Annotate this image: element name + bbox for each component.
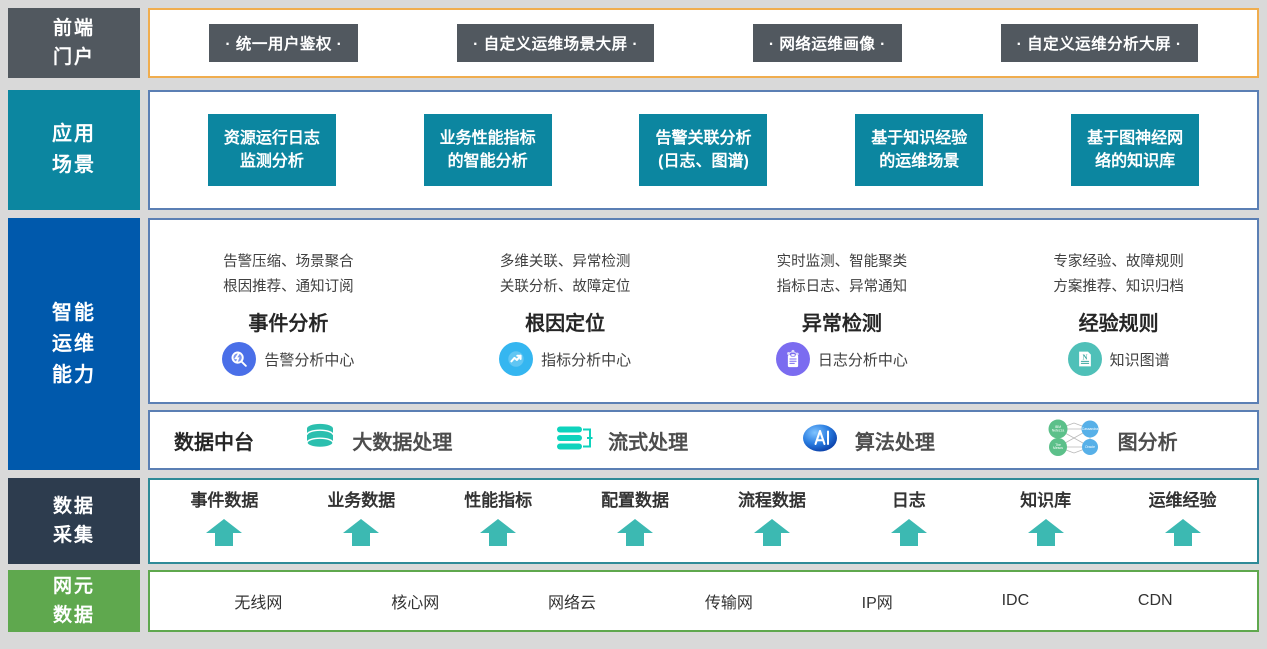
- collection-item-performance-kpi[interactable]: 性能指标: [430, 486, 567, 562]
- capability-title: 事件分析: [248, 307, 328, 336]
- up-arrow-icon: [204, 517, 244, 552]
- app-chip-line: 基于知识经验: [871, 127, 967, 150]
- collection-item-label: 配置数据: [601, 486, 669, 511]
- svg-text:Oracle: Oracle: [1085, 445, 1095, 449]
- band-label-line: 数据: [53, 601, 95, 630]
- ai-icon: [797, 421, 843, 460]
- band-label-line: 智能: [52, 298, 96, 329]
- svg-text:Netezza: Netezza: [1051, 428, 1064, 432]
- band-label-line: 能力: [52, 360, 96, 391]
- svg-text:N: N: [1082, 354, 1087, 362]
- band-label-application: 应用 场景: [8, 90, 140, 210]
- platform-item-label: 图分析: [1118, 426, 1178, 455]
- app-chip-knowledge-based-ops[interactable]: 基于知识经验 的运维场景: [855, 114, 983, 186]
- capability-product-label: 告警分析中心: [264, 349, 354, 370]
- capability-bullets: 多维关联、异常检测 关联分析、故障定位: [500, 250, 631, 299]
- data-middle-platform-title: 数据中台: [174, 426, 254, 455]
- data-middle-platform-panel: 数据中台 大数据处理: [148, 410, 1259, 470]
- ne-item-wireless[interactable]: 无线网: [234, 589, 282, 613]
- up-arrow-icon: [478, 517, 518, 552]
- capability-root-cause[interactable]: 多维关联、异常检测 关联分析、故障定位 根因定位 指标分析中心: [427, 220, 704, 402]
- collection-item-ops-experience[interactable]: 运维经验: [1114, 486, 1251, 562]
- ne-item-transport[interactable]: 传输网: [705, 589, 753, 613]
- stream-icon: [554, 421, 596, 460]
- app-chip-alarm-correlation-analysis[interactable]: 告警关联分析 (日志、图谱): [639, 114, 767, 186]
- collection-item-knowledge-base[interactable]: 知识库: [977, 486, 1114, 562]
- platform-item-graph-analysis[interactable]: IBM Netezza Cassandra The Mesos Oracle 图…: [988, 417, 1233, 464]
- svg-text:Cassandra: Cassandra: [1081, 427, 1098, 431]
- front-portal-panel: · 统一用户鉴权 · · 自定义运维场景大屏 · · 网络运维画像 · · 自定…: [148, 8, 1259, 78]
- app-chip-gnn-knowledge-base[interactable]: 基于图神经网 络的知识库: [1071, 114, 1199, 186]
- ne-item-core-network[interactable]: 核心网: [391, 589, 439, 613]
- platform-item-big-data[interactable]: 大数据处理: [254, 421, 499, 460]
- band-label-line: 场景: [52, 150, 96, 181]
- capability-bullet-line: 方案推荐、知识归档: [1053, 275, 1184, 300]
- collection-item-business-data[interactable]: 业务数据: [293, 486, 430, 562]
- knowledge-doc-icon: N: [1068, 342, 1102, 376]
- ne-item-network-cloud[interactable]: 网络云: [548, 589, 596, 613]
- band-label-aiops: 智能 运维 能力: [8, 218, 140, 470]
- capability-product[interactable]: 日志分析中心: [776, 342, 908, 376]
- capability-bullet-line: 多维关联、异常检测: [500, 250, 631, 275]
- ne-item-idc[interactable]: IDC: [1002, 592, 1030, 610]
- capability-bullet-line: 告警压缩、场景聚合: [223, 250, 354, 275]
- band-label-line: 门户: [53, 43, 95, 72]
- platform-item-label: 流式处理: [608, 426, 688, 455]
- capability-product[interactable]: N 知识图谱: [1068, 342, 1170, 376]
- ne-item-ip-network[interactable]: IP网: [862, 589, 893, 613]
- capability-bullets: 专家经验、故障规则 方案推荐、知识归档: [1053, 250, 1184, 299]
- capability-bullet-line: 指标日志、异常通知: [777, 275, 908, 300]
- capability-title: 异常检测: [802, 307, 882, 336]
- portal-chip-unified-auth[interactable]: · 统一用户鉴权 ·: [209, 24, 358, 62]
- app-chip-line: 监测分析: [240, 150, 304, 173]
- up-arrow-icon: [1026, 517, 1066, 552]
- band-label-line: 网元: [53, 572, 95, 601]
- portal-chip-custom-analysis-dashboard[interactable]: · 自定义运维分析大屏 ·: [1001, 24, 1198, 62]
- portal-chip-custom-ops-dashboard[interactable]: · 自定义运维场景大屏 ·: [457, 24, 654, 62]
- collection-item-process-data[interactable]: 流程数据: [704, 486, 841, 562]
- up-arrow-icon: [889, 517, 929, 552]
- band-label-network-element: 网元 数据: [8, 570, 140, 632]
- capability-bullets: 告警压缩、场景聚合 根因推荐、通知订阅: [223, 250, 354, 299]
- svg-text:Mesos: Mesos: [1053, 446, 1063, 450]
- up-arrow-icon: [1163, 517, 1203, 552]
- band-label-data-collection: 数据 采集: [8, 478, 140, 564]
- capability-bullets: 实时监测、智能聚类 指标日志、异常通知: [777, 250, 908, 299]
- app-chip-line: 业务性能指标: [440, 127, 536, 150]
- app-chip-line: (日志、图谱): [658, 150, 749, 173]
- capability-product[interactable]: 指标分析中心: [499, 342, 631, 376]
- band-label-line: 数据: [53, 492, 95, 521]
- portal-chip-network-ops-profile[interactable]: · 网络运维画像 ·: [753, 24, 902, 62]
- band-label-line: 前端: [53, 14, 95, 43]
- collection-item-label: 日志: [892, 486, 926, 511]
- row-data-collection: 数据 采集 事件数据 业务数据 性能指标: [8, 478, 1259, 564]
- up-arrow-icon: [341, 517, 381, 552]
- collection-item-config-data[interactable]: 配置数据: [567, 486, 704, 562]
- app-chip-resource-log-analysis[interactable]: 资源运行日志 监测分析: [208, 114, 336, 186]
- collection-item-label: 性能指标: [464, 486, 532, 511]
- platform-item-algorithm[interactable]: 算法处理: [744, 421, 989, 460]
- app-chip-line: 络的知识库: [1095, 150, 1175, 173]
- aiops-capability-panel: 告警压缩、场景聚合 根因推荐、通知订阅 事件分析 告警分析中心: [148, 218, 1259, 404]
- application-panel: 资源运行日志 监测分析 业务性能指标 的智能分析 告警关联分析 (日志、图谱) …: [148, 90, 1259, 210]
- database-icon: [300, 421, 340, 460]
- capability-bullet-line: 关联分析、故障定位: [500, 275, 631, 300]
- aiops-stack: 告警压缩、场景聚合 根因推荐、通知订阅 事件分析 告警分析中心: [148, 218, 1259, 470]
- app-chip-line: 基于图神经网: [1087, 127, 1183, 150]
- app-chip-line: 的运维场景: [879, 150, 959, 173]
- capability-product-label: 日志分析中心: [818, 349, 908, 370]
- ne-item-cdn[interactable]: CDN: [1138, 592, 1173, 610]
- collection-item-label: 流程数据: [738, 486, 806, 511]
- alert-search-icon: [222, 342, 256, 376]
- capability-bullet-line: 根因推荐、通知订阅: [223, 275, 354, 300]
- app-chip-line: 的智能分析: [448, 150, 528, 173]
- row-front-portal: 前端 门户 · 统一用户鉴权 · · 自定义运维场景大屏 · · 网络运维画像 …: [8, 8, 1259, 78]
- capability-event-analysis[interactable]: 告警压缩、场景聚合 根因推荐、通知订阅 事件分析 告警分析中心: [150, 220, 427, 402]
- collection-item-label: 事件数据: [190, 486, 258, 511]
- app-chip-line: 资源运行日志: [224, 127, 320, 150]
- row-application-scenarios: 应用 场景 资源运行日志 监测分析 业务性能指标 的智能分析 告警关联分析 (日…: [8, 90, 1259, 210]
- capability-product-label: 知识图谱: [1110, 349, 1170, 370]
- graph-network-icon: IBM Netezza Cassandra The Mesos Oracle: [1044, 417, 1106, 464]
- platform-item-label: 大数据处理: [352, 426, 452, 455]
- up-arrow-icon: [615, 517, 655, 552]
- band-label-line: 应用: [52, 119, 96, 150]
- capability-title: 经验规则: [1079, 307, 1159, 336]
- up-arrow-icon: [752, 517, 792, 552]
- collection-item-event-data[interactable]: 事件数据: [156, 486, 293, 562]
- capability-product[interactable]: 告警分析中心: [222, 342, 354, 376]
- row-aiops-capability: 智能 运维 能力 告警压缩、场景聚合 根因推荐、通知订阅 事件分析: [8, 218, 1259, 470]
- architecture-diagram: 前端 门户 · 统一用户鉴权 · · 自定义运维场景大屏 · · 网络运维画像 …: [0, 0, 1267, 649]
- app-chip-line: 告警关联分析: [655, 127, 751, 150]
- capability-bullet-line: 专家经验、故障规则: [1053, 250, 1184, 275]
- band-label-front-portal: 前端 门户: [8, 8, 140, 78]
- clipboard-log-icon: [776, 342, 810, 376]
- platform-item-stream[interactable]: 流式处理: [499, 421, 744, 460]
- capability-product-label: 指标分析中心: [541, 349, 631, 370]
- network-element-panel: 无线网 核心网 网络云 传输网 IP网 IDC CDN: [148, 570, 1259, 632]
- platform-item-label: 算法处理: [855, 426, 935, 455]
- collection-item-label: 运维经验: [1149, 486, 1217, 511]
- band-label-line: 运维: [52, 329, 96, 360]
- collection-item-logs[interactable]: 日志: [840, 486, 977, 562]
- collection-item-label: 业务数据: [327, 486, 395, 511]
- trend-chart-icon: [499, 342, 533, 376]
- app-chip-business-kpi-analysis[interactable]: 业务性能指标 的智能分析: [424, 114, 552, 186]
- capability-title: 根因定位: [525, 307, 605, 336]
- collection-item-label: 知识库: [1020, 486, 1071, 511]
- data-collection-panel: 事件数据 业务数据 性能指标 配置数据: [148, 478, 1259, 564]
- capability-bullet-line: 实时监测、智能聚类: [777, 250, 908, 275]
- capability-experience-rules[interactable]: 专家经验、故障规则 方案推荐、知识归档 经验规则 N: [980, 220, 1257, 402]
- row-network-element-data: 网元 数据 无线网 核心网 网络云 传输网 IP网 IDC CDN: [8, 570, 1259, 632]
- band-label-line: 采集: [53, 521, 95, 550]
- capability-anomaly-detection[interactable]: 实时监测、智能聚类 指标日志、异常通知 异常检测: [704, 220, 981, 402]
